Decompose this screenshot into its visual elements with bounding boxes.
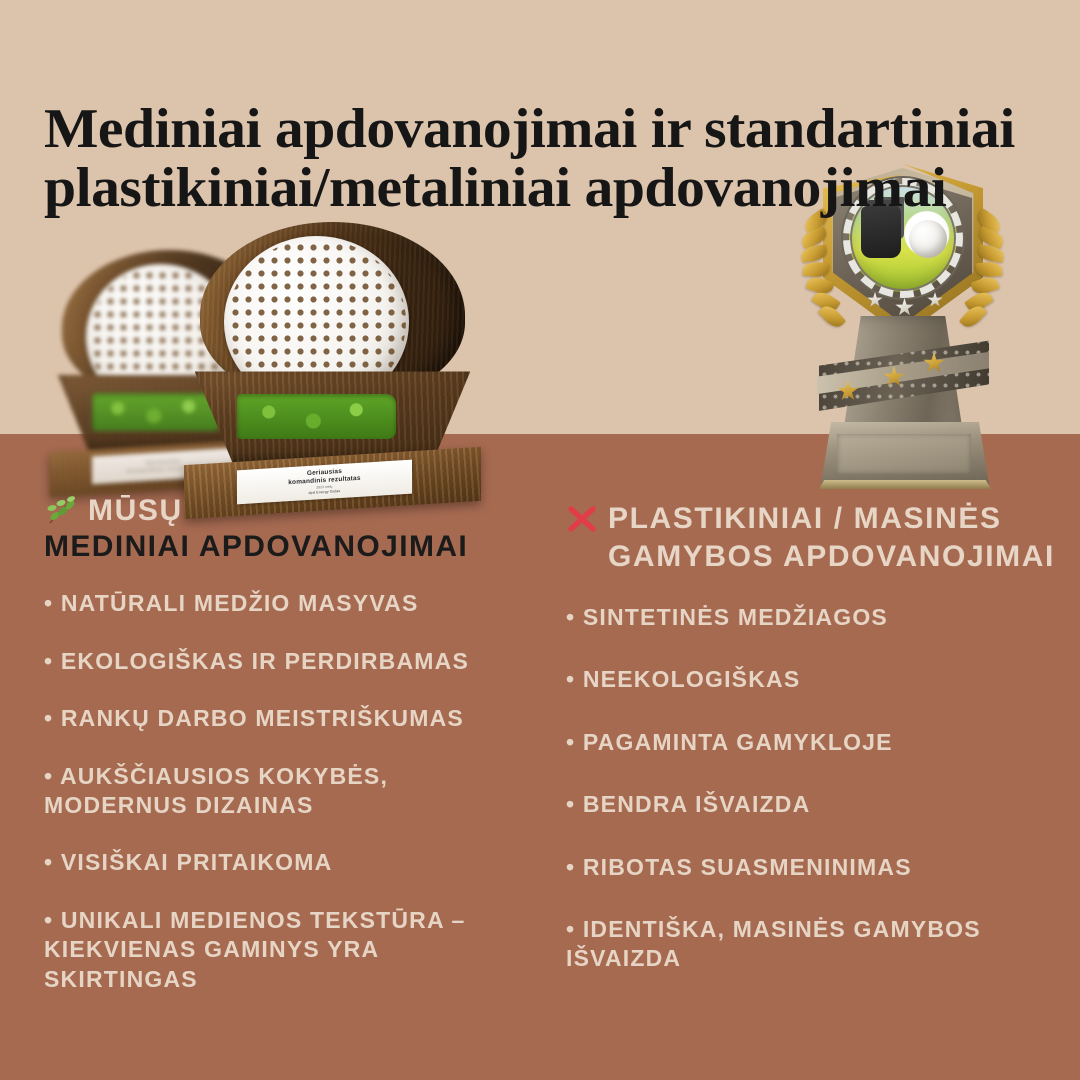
laurel-right	[964, 212, 1004, 332]
poster-root: Geriausias komandinis rezultatas Geriaus…	[0, 0, 1080, 1080]
left-heading-line2: MEDINIAI APDOVANOJIMAI	[44, 530, 544, 564]
right-heading-row: PLASTIKINIAI / MASINĖS GAMYBOS APDOVANOJ…	[566, 500, 1066, 577]
trophy-base-plate	[837, 434, 971, 474]
list-item: • RANKŲ DARBO MEISTRIŠKUMAS	[44, 704, 514, 733]
list-item: • SINTETINĖS MEDŽIAGOS	[566, 603, 1056, 632]
left-bullet-list: • NATŪRALI MEDŽIO MASYVAS • EKOLOGIŠKAS …	[44, 589, 544, 994]
list-item: • UNIKALI MEDIENOS TEKSTŪRA – KIEKVIENAS…	[44, 906, 514, 994]
plaque-front-line-3: 2023 metų	[317, 484, 333, 489]
list-item: • RIBOTAS SUASMENINIMAS	[566, 853, 1056, 882]
list-item: • IDENTIŠKA, MASINĖS GAMYBOS IŠVAIZDA	[566, 915, 1056, 974]
list-item: • NATŪRALI MEDŽIO MASYVAS	[44, 589, 514, 618]
wooden-trophy-front: Geriausias komandinis rezultatas 2023 me…	[200, 222, 465, 504]
left-heading-row: MŪSŲ	[44, 494, 544, 528]
list-item: • AUKŠČIAUSIOS KOKYBĖS, MODERNUS DIZAINA…	[44, 762, 514, 821]
list-item: • VISIŠKAI PRITAIKOMA	[44, 848, 514, 877]
trophy-base-lip	[819, 480, 991, 489]
herb-sprig-icon	[44, 496, 78, 526]
list-item: • NEEKOLOGIŠKAS	[566, 665, 1056, 694]
red-x-icon	[566, 504, 598, 534]
list-item: • BENDRA IŠVAIZDA	[566, 790, 1056, 819]
list-item: • PAGAMINTA GAMYKLOJE	[566, 728, 1056, 757]
laurel-left	[801, 212, 841, 332]
wooden-awards-column: MŪSŲ MEDINIAI APDOVANOJIMAI • NATŪRALI M…	[44, 494, 544, 1022]
list-item: • EKOLOGIŠKAS IR PERDIRBAMAS	[44, 647, 514, 676]
plastic-awards-column: PLASTIKINIAI / MASINĖS GAMYBOS APDOVANOJ…	[566, 500, 1066, 1007]
wooden-golf-trophy-photo: Geriausias komandinis rezultatas Geriaus…	[52, 222, 512, 507]
left-heading-line1: MŪSŲ	[88, 494, 183, 528]
right-heading: PLASTIKINIAI / MASINĖS GAMYBOS APDOVANOJ…	[608, 500, 1066, 577]
moss-front	[237, 394, 396, 439]
page-title: Mediniai apdovanojimai ir standartiniai …	[44, 100, 1069, 220]
right-bullet-list: • SINTETINĖS MEDŽIAGOS • NEEKOLOGIŠKAS •…	[566, 603, 1066, 974]
